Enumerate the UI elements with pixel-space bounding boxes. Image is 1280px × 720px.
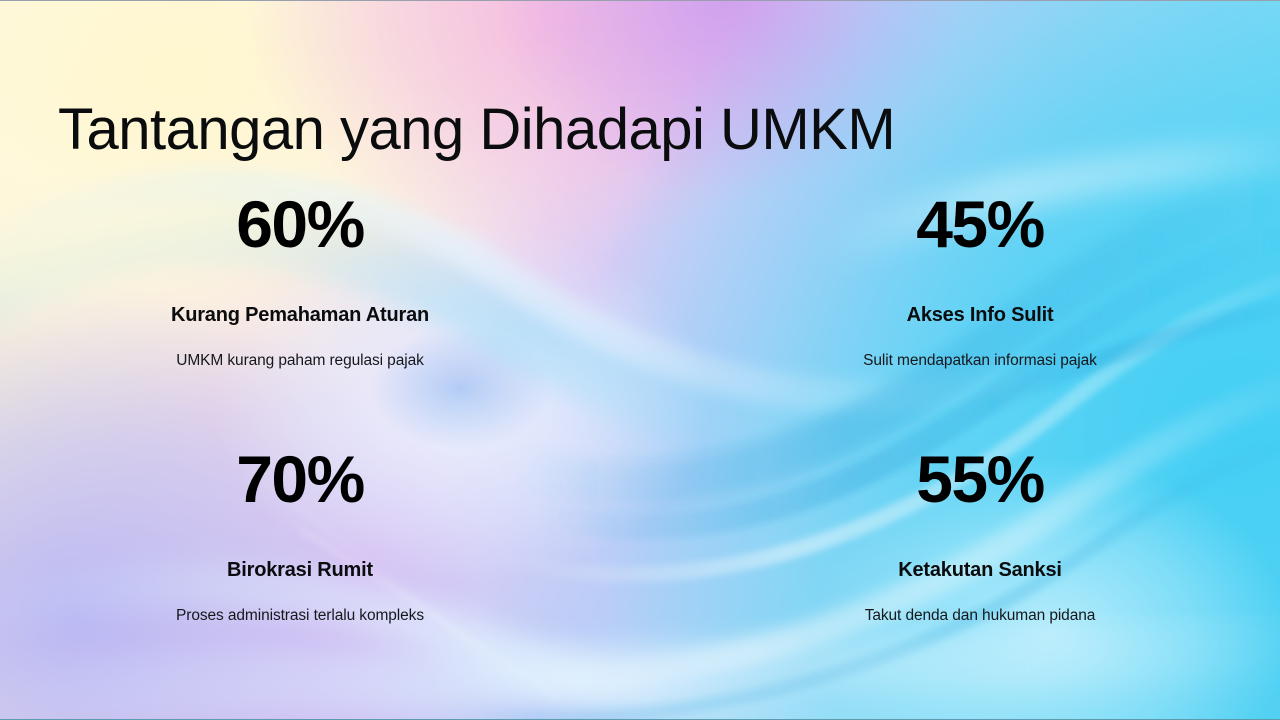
stat-description: Takut denda dan hukuman pidana [865, 606, 1096, 625]
stat-label: Ketakutan Sanksi [898, 558, 1062, 582]
stat-value: 60% [236, 191, 364, 257]
stat-card-birokrasi-rumit: 70% Birokrasi Rumit Proses administrasi … [0, 446, 640, 701]
stat-label: Akses Info Sulit [907, 303, 1054, 327]
stat-card-akses-info-sulit: 45% Akses Info Sulit Sulit mendapatkan i… [640, 191, 1280, 446]
stat-card-ketakutan-sanksi: 55% Ketakutan Sanksi Takut denda dan huk… [640, 446, 1280, 701]
stat-value: 45% [916, 191, 1044, 257]
stat-description: Sulit mendapatkan informasi pajak [863, 351, 1097, 370]
presentation-slide: Tantangan yang Dihadapi UMKM 60% Kurang … [0, 0, 1280, 720]
stat-description: Proses administrasi terlalu kompleks [176, 606, 424, 625]
stat-label: Kurang Pemahaman Aturan [171, 303, 429, 327]
slide-content: Tantangan yang Dihadapi UMKM 60% Kurang … [0, 1, 1280, 719]
stat-label: Birokrasi Rumit [227, 558, 373, 582]
stat-value: 70% [236, 446, 364, 512]
stat-card-kurang-pemahaman-aturan: 60% Kurang Pemahaman Aturan UMKM kurang … [0, 191, 640, 446]
page-title: Tantangan yang Dihadapi UMKM [58, 98, 895, 163]
stat-description: UMKM kurang paham regulasi pajak [176, 351, 424, 370]
stats-grid: 60% Kurang Pemahaman Aturan UMKM kurang … [0, 191, 1280, 701]
stat-value: 55% [916, 446, 1044, 512]
